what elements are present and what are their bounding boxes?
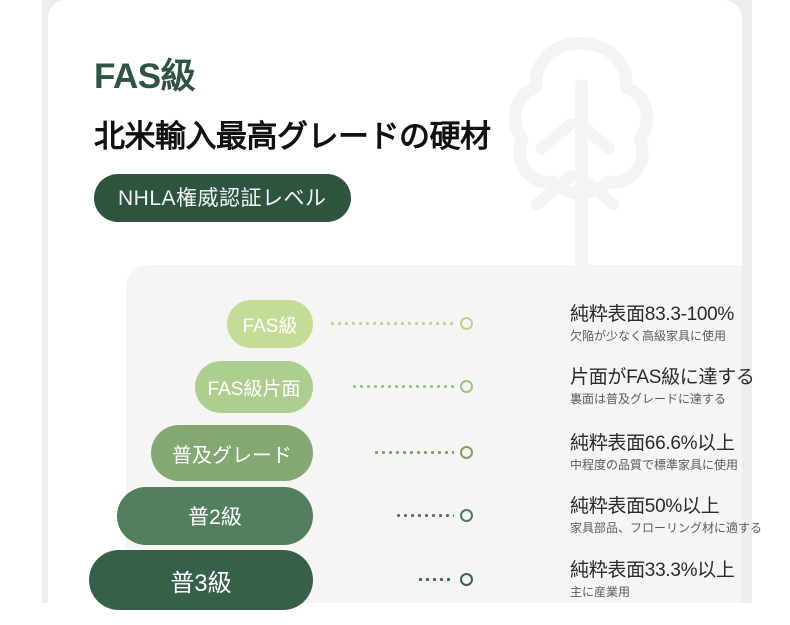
grade-row[interactable]: FAS級純粋表面83.3-100%欠陥が少なく高級家具に使用 <box>78 300 790 348</box>
connector-ring-icon <box>460 446 473 459</box>
grade-row[interactable]: 普3級純粋表面33.3%以上主に産業用 <box>78 550 790 610</box>
grade-info-title: 純粋表面83.3-100% <box>570 304 734 326</box>
grade-info-desc: 欠陥が少なく高級家具に使用 <box>570 328 734 344</box>
connector <box>419 573 473 586</box>
grade-pill[interactable]: 普及グレード <box>151 425 313 481</box>
dotted-line <box>397 514 454 517</box>
page-title: 北米輸入最高グレードの硬材 <box>94 119 722 155</box>
grade-pill[interactable]: FAS級片面 <box>195 361 313 413</box>
connector-ring-icon <box>460 317 473 330</box>
grade-info-title: 純粋表面66.6%以上 <box>570 433 738 455</box>
connector <box>375 446 473 459</box>
grade-row[interactable]: 普及グレード純粋表面66.6%以上中程度の品質で標準家具に使用 <box>78 425 790 481</box>
dotted-line <box>375 451 454 454</box>
grade-info-desc: 主に産業用 <box>570 584 735 600</box>
connector <box>397 509 473 522</box>
dotted-line <box>331 322 454 325</box>
page-eyebrow: FAS級 <box>94 58 722 97</box>
grade-info-title: 純粋表面50%以上 <box>570 496 762 518</box>
connector-ring-icon <box>460 573 473 586</box>
dotted-line <box>419 578 454 581</box>
grade-pill[interactable]: 普3級 <box>89 550 313 610</box>
connector-ring-icon <box>460 509 473 522</box>
connector <box>353 380 473 393</box>
grade-info: 純粋表面66.6%以上中程度の品質で標準家具に使用 <box>570 433 738 473</box>
grade-info-title: 片面がFAS級に達する <box>570 367 755 389</box>
grade-row[interactable]: 普2級純粋表面50%以上家具部品、フローリング材に適する <box>78 487 790 545</box>
grade-pill[interactable]: 普2級 <box>117 487 313 545</box>
grade-list: FAS級純粋表面83.3-100%欠陥が少なく高級家具に使用FAS級片面片面がF… <box>78 265 790 625</box>
grade-info-desc: 家具部品、フローリング材に適する <box>570 520 762 536</box>
grade-row[interactable]: FAS級片面片面がFAS級に達する裏面は普及グレードに達する <box>78 361 790 413</box>
grade-info: 純粋表面50%以上家具部品、フローリング材に適する <box>570 496 762 536</box>
grade-info-desc: 裏面は普及グレードに達する <box>570 391 755 407</box>
left-gutter <box>0 0 42 603</box>
grade-info: 純粋表面83.3-100%欠陥が少なく高級家具に使用 <box>570 304 734 344</box>
grade-info-desc: 中程度の品質で標準家具に使用 <box>570 457 738 473</box>
grade-info: 純粋表面33.3%以上主に産業用 <box>570 560 735 600</box>
grade-info: 片面がFAS級に達する裏面は普及グレードに達する <box>570 367 755 407</box>
connector-ring-icon <box>460 380 473 393</box>
dotted-line <box>353 385 454 388</box>
grade-info-title: 純粋表面33.3%以上 <box>570 560 735 582</box>
header: FAS級 北米輸入最高グレードの硬材 NHLA権威認証レベル <box>94 58 722 222</box>
status-badge: NHLA権威認証レベル <box>94 174 351 222</box>
grade-pill[interactable]: FAS級 <box>227 300 313 348</box>
connector <box>331 317 473 330</box>
